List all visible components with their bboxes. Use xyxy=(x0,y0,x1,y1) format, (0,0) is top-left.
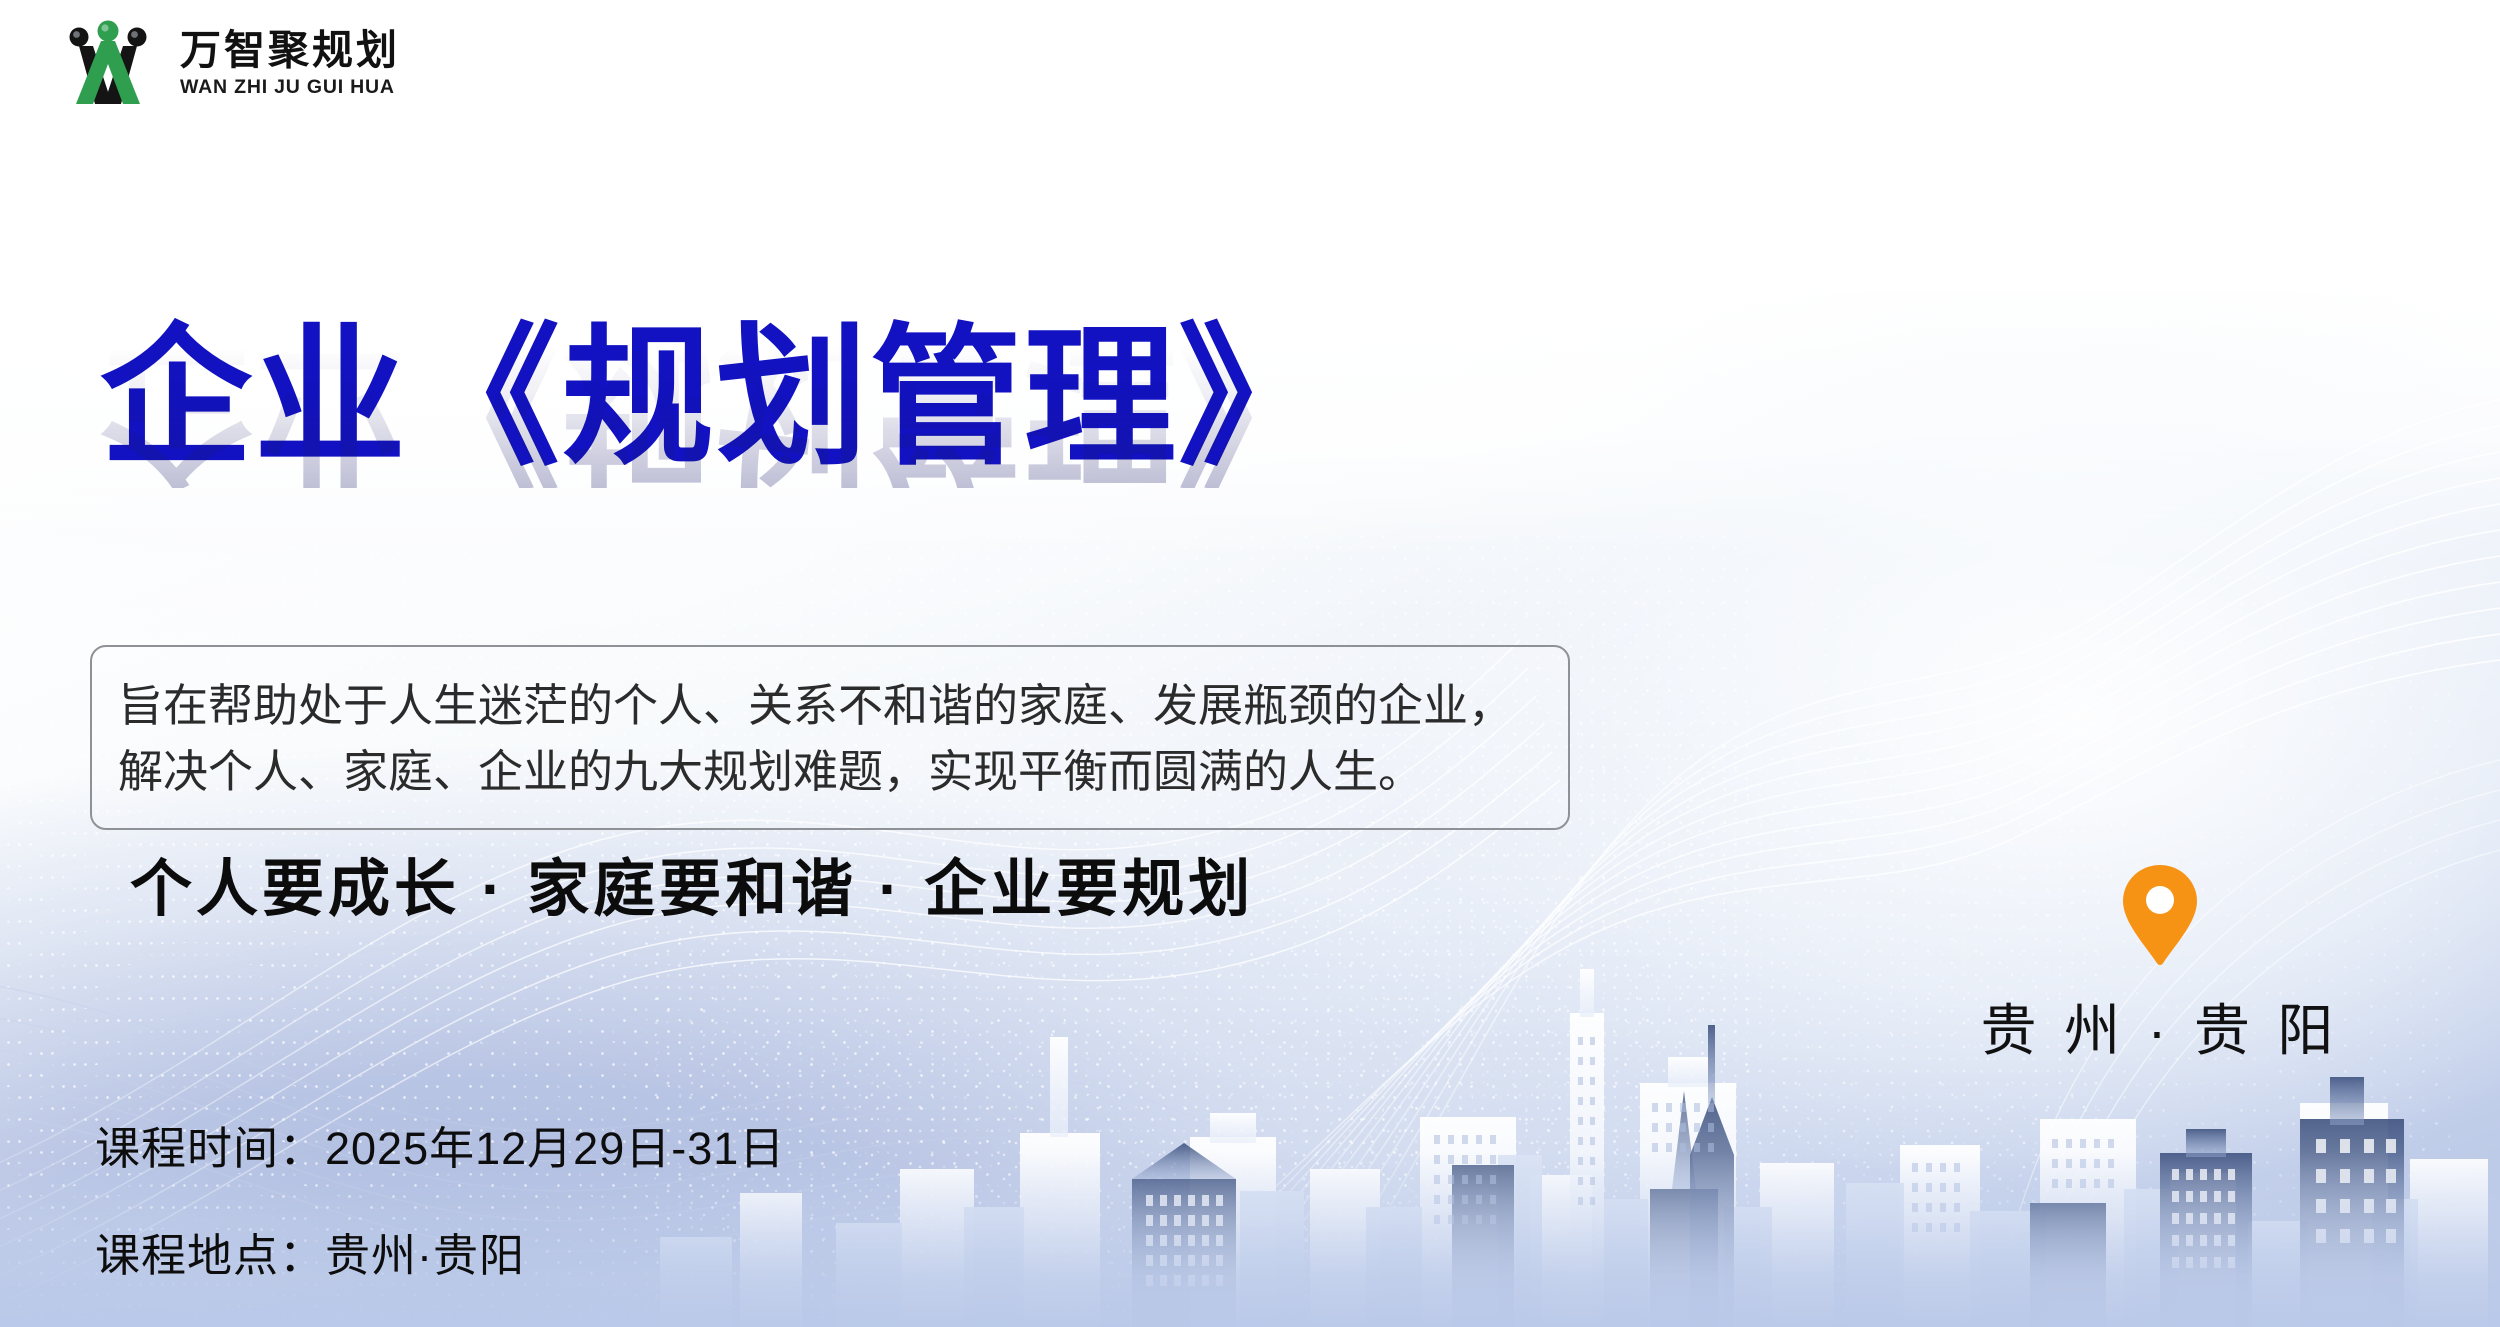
poster-canvas: 万智聚规划 WAN ZHI JU GUI HUA 企业《规划管理》 企业《规划管… xyxy=(0,0,2500,1327)
brand-logo-text: 万智聚规划 WAN ZHI JU GUI HUA xyxy=(180,30,400,98)
location-badge: 贵 州 · 贵 阳 xyxy=(1960,862,2360,1067)
brand-name-cn: 万智聚规划 xyxy=(180,30,400,71)
three-people-logo-icon xyxy=(52,18,164,110)
description-box: 旨在帮助处于人生迷茫的个人、关系不和谐的家庭、发展瓶颈的企业， 解决个人、家庭、… xyxy=(90,645,1570,830)
course-info-block: 课程时间：2025年12月29日-31日 课程地点：贵州·贵阳 xyxy=(95,1112,785,1284)
slogan-text: 个人要成长 · 家庭要和谐 · 企业要规划 xyxy=(130,838,1254,928)
description-line-1: 旨在帮助处于人生迷茫的个人、关系不和谐的家庭、发展瓶颈的企业， xyxy=(118,673,1540,739)
brand-name-pinyin: WAN ZHI JU GUI HUA xyxy=(180,78,400,98)
location-label: 贵 州 · 贵 阳 xyxy=(1981,986,2340,1067)
course-time: 课程时间：2025年12月29日-31日 xyxy=(95,1112,785,1177)
course-place: 课程地点：贵州·贵阳 xyxy=(95,1219,785,1284)
page-title-reflection: 企业《规划管理》 xyxy=(100,336,1332,488)
description-line-2: 解决个人、家庭、企业的九大规划难题，实现平衡而圆满的人生。 xyxy=(118,739,1540,805)
map-pin-icon xyxy=(2119,862,2201,968)
hero-title-block: 企业《规划管理》 企业《规划管理》 xyxy=(100,322,1660,662)
brand-logo: 万智聚规划 WAN ZHI JU GUI HUA xyxy=(52,18,400,110)
